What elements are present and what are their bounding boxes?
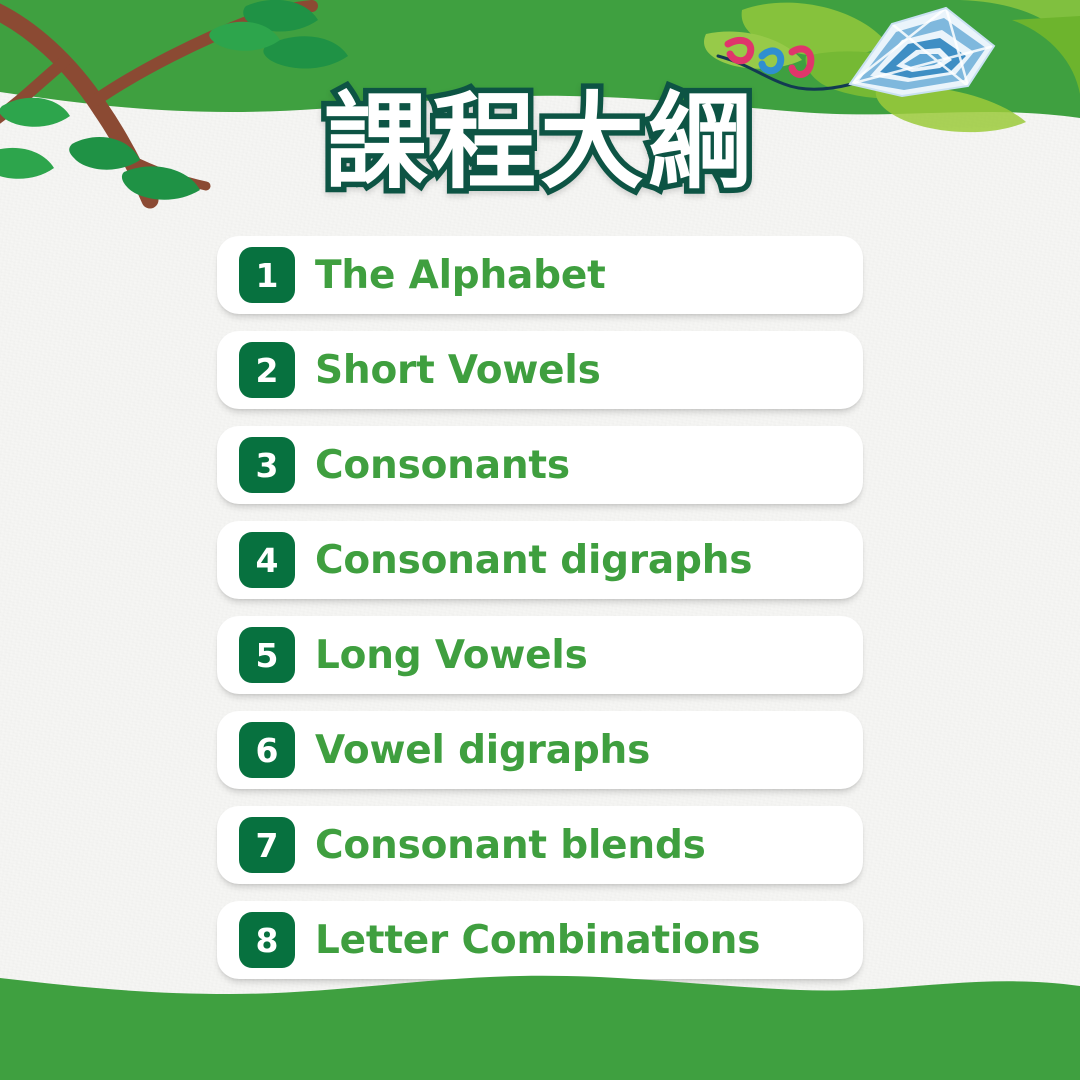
item-label: Consonants [315,446,570,485]
list-item[interactable]: 4 Consonant digraphs [217,521,863,599]
item-number-badge: 5 [239,627,295,683]
item-number-badge: 4 [239,532,295,588]
course-outline-list: 1 The Alphabet 2 Short Vowels 3 Consonan… [217,236,863,979]
list-item[interactable]: 2 Short Vowels [217,331,863,409]
item-label: The Alphabet [315,256,606,295]
item-number-badge: 7 [239,817,295,873]
item-label: Long Vowels [315,636,588,675]
item-label: Short Vowels [315,351,601,390]
bottom-green-wave [0,950,1080,1080]
item-label: Vowel digraphs [315,731,650,770]
poster-canvas: 課程大綱 1 The Alphabet 2 Short Vowels 3 Con… [0,0,1080,1080]
list-item[interactable]: 3 Consonants [217,426,863,504]
list-item[interactable]: 5 Long Vowels [217,616,863,694]
page-title: 課程大綱 [324,88,756,197]
item-label: Consonant digraphs [315,541,752,580]
item-number-badge: 3 [239,437,295,493]
item-number-badge: 6 [239,722,295,778]
item-number-badge: 2 [239,342,295,398]
item-label: Consonant blends [315,826,706,865]
list-item[interactable]: 7 Consonant blends [217,806,863,884]
list-item[interactable]: 1 The Alphabet [217,236,863,314]
page-title-container: 課程大綱 [0,88,1080,197]
item-number-badge: 1 [239,247,295,303]
list-item[interactable]: 6 Vowel digraphs [217,711,863,789]
